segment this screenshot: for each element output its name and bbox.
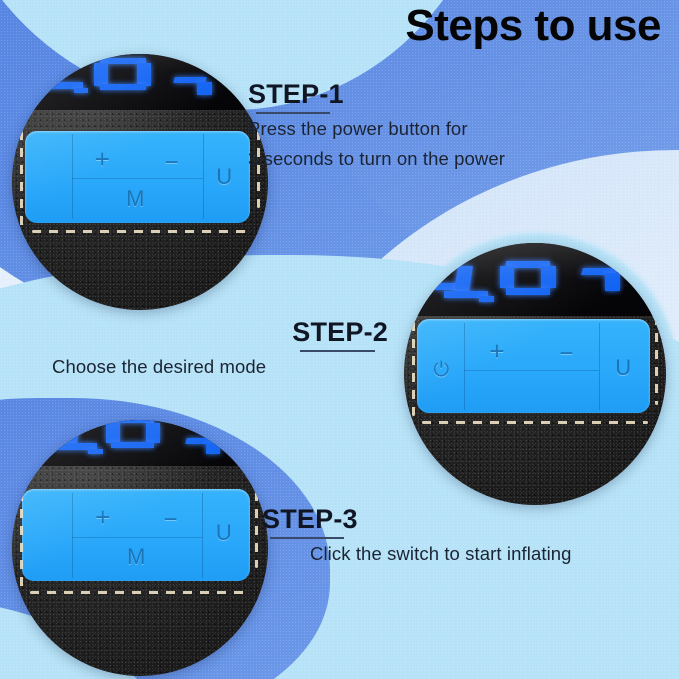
step-2-body: Choose the desired mode — [48, 352, 388, 382]
mode-key-1[interactable]: M — [126, 188, 144, 210]
steps-to-use-poster: Steps to use + − — [0, 0, 679, 679]
stitching-left-2 — [412, 322, 415, 416]
step-1-body: Press the power button for 3 seconds to … — [248, 114, 505, 174]
power-icon-2[interactable]: ⏻ — [433, 360, 449, 380]
mode-key-3[interactable]: M — [127, 546, 145, 568]
step-2-underline — [300, 350, 375, 352]
step-1-heading: STEP-1 — [248, 80, 344, 114]
step-3-body: Click the switch to start inflating — [262, 539, 572, 569]
lcd-display-2 — [404, 243, 666, 316]
plus-key-3[interactable]: + — [95, 504, 110, 530]
step-3-heading: STEP-3 — [262, 505, 358, 539]
device-body-3: + − M U — [12, 420, 268, 676]
stitching-right-3 — [255, 492, 258, 569]
step-1-text-block: STEP-1 Press the power button for 3 seco… — [248, 80, 505, 174]
stitching-right-2 — [655, 316, 658, 405]
page-title: Steps to use — [405, 4, 661, 48]
step-2-heading-label: STEP-2 — [292, 317, 388, 347]
stitching-left-3 — [20, 492, 23, 589]
step-1-body-line-1: Press the power button for — [248, 114, 505, 144]
touch-keypad-2[interactable]: ⏻ + − U — [417, 319, 650, 413]
step-3-text-block: STEP-3 Click the switch to start inflati… — [262, 505, 572, 569]
step-3-body-line-1: Click the switch to start inflating — [310, 539, 572, 569]
touch-keypad-3[interactable]: + − M U — [22, 489, 250, 581]
stitching-left-1 — [20, 131, 23, 228]
step-2-body-line-1: Choose the desired mode — [52, 352, 388, 382]
lcd-display-3 — [12, 420, 268, 466]
unit-key-1[interactable]: U — [216, 166, 232, 188]
step-3-heading-label: STEP-3 — [262, 504, 358, 534]
touch-keypad-1[interactable]: + − M U — [25, 131, 250, 223]
step-1-body-line-2: 3 seconds to turn on the power — [248, 144, 505, 174]
step-2-heading: STEP-2 — [292, 318, 388, 352]
unit-key-3[interactable]: U — [216, 522, 232, 544]
step-1-heading-label: STEP-1 — [248, 79, 344, 109]
photo-step-3: + − M U — [12, 420, 268, 676]
device-body-1: + − M U — [12, 54, 268, 310]
minus-key-1[interactable]: − — [164, 151, 178, 175]
device-body-2: ⏻ + − U — [404, 243, 666, 505]
plus-key-2[interactable]: + — [489, 338, 504, 364]
unit-key-2[interactable]: U — [615, 357, 631, 379]
photo-step-1: + − M U — [12, 54, 268, 310]
photo-step-2: ⏻ + − U — [404, 243, 666, 505]
plus-key-1[interactable]: + — [95, 146, 110, 172]
stitching-bottom-3 — [30, 591, 248, 594]
stitching-bottom-2 — [422, 421, 647, 424]
step-2-text-block: STEP-2 Choose the desired mode — [48, 318, 388, 382]
minus-key-3[interactable]: − — [163, 508, 177, 532]
minus-key-2[interactable]: − — [559, 342, 573, 366]
stitching-bottom-1 — [32, 230, 247, 233]
lcd-display-1 — [12, 54, 268, 110]
